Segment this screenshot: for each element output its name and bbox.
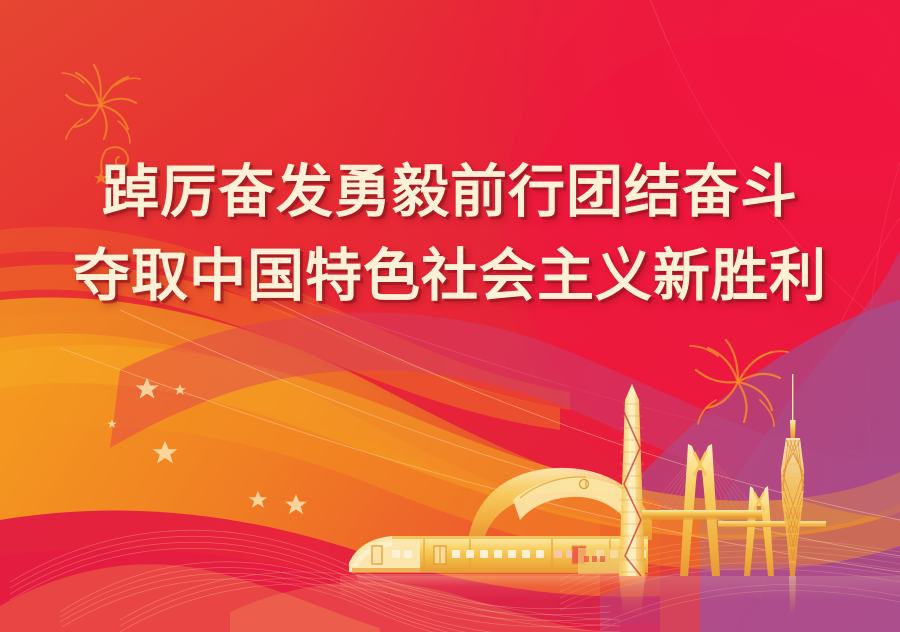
low-rise-building <box>578 548 622 574</box>
skyline-layer <box>0 0 900 632</box>
poster-canvas: 踔厉奋发勇毅前行团结奋斗 夺取中国特色社会主义新胜利 <box>0 0 900 632</box>
